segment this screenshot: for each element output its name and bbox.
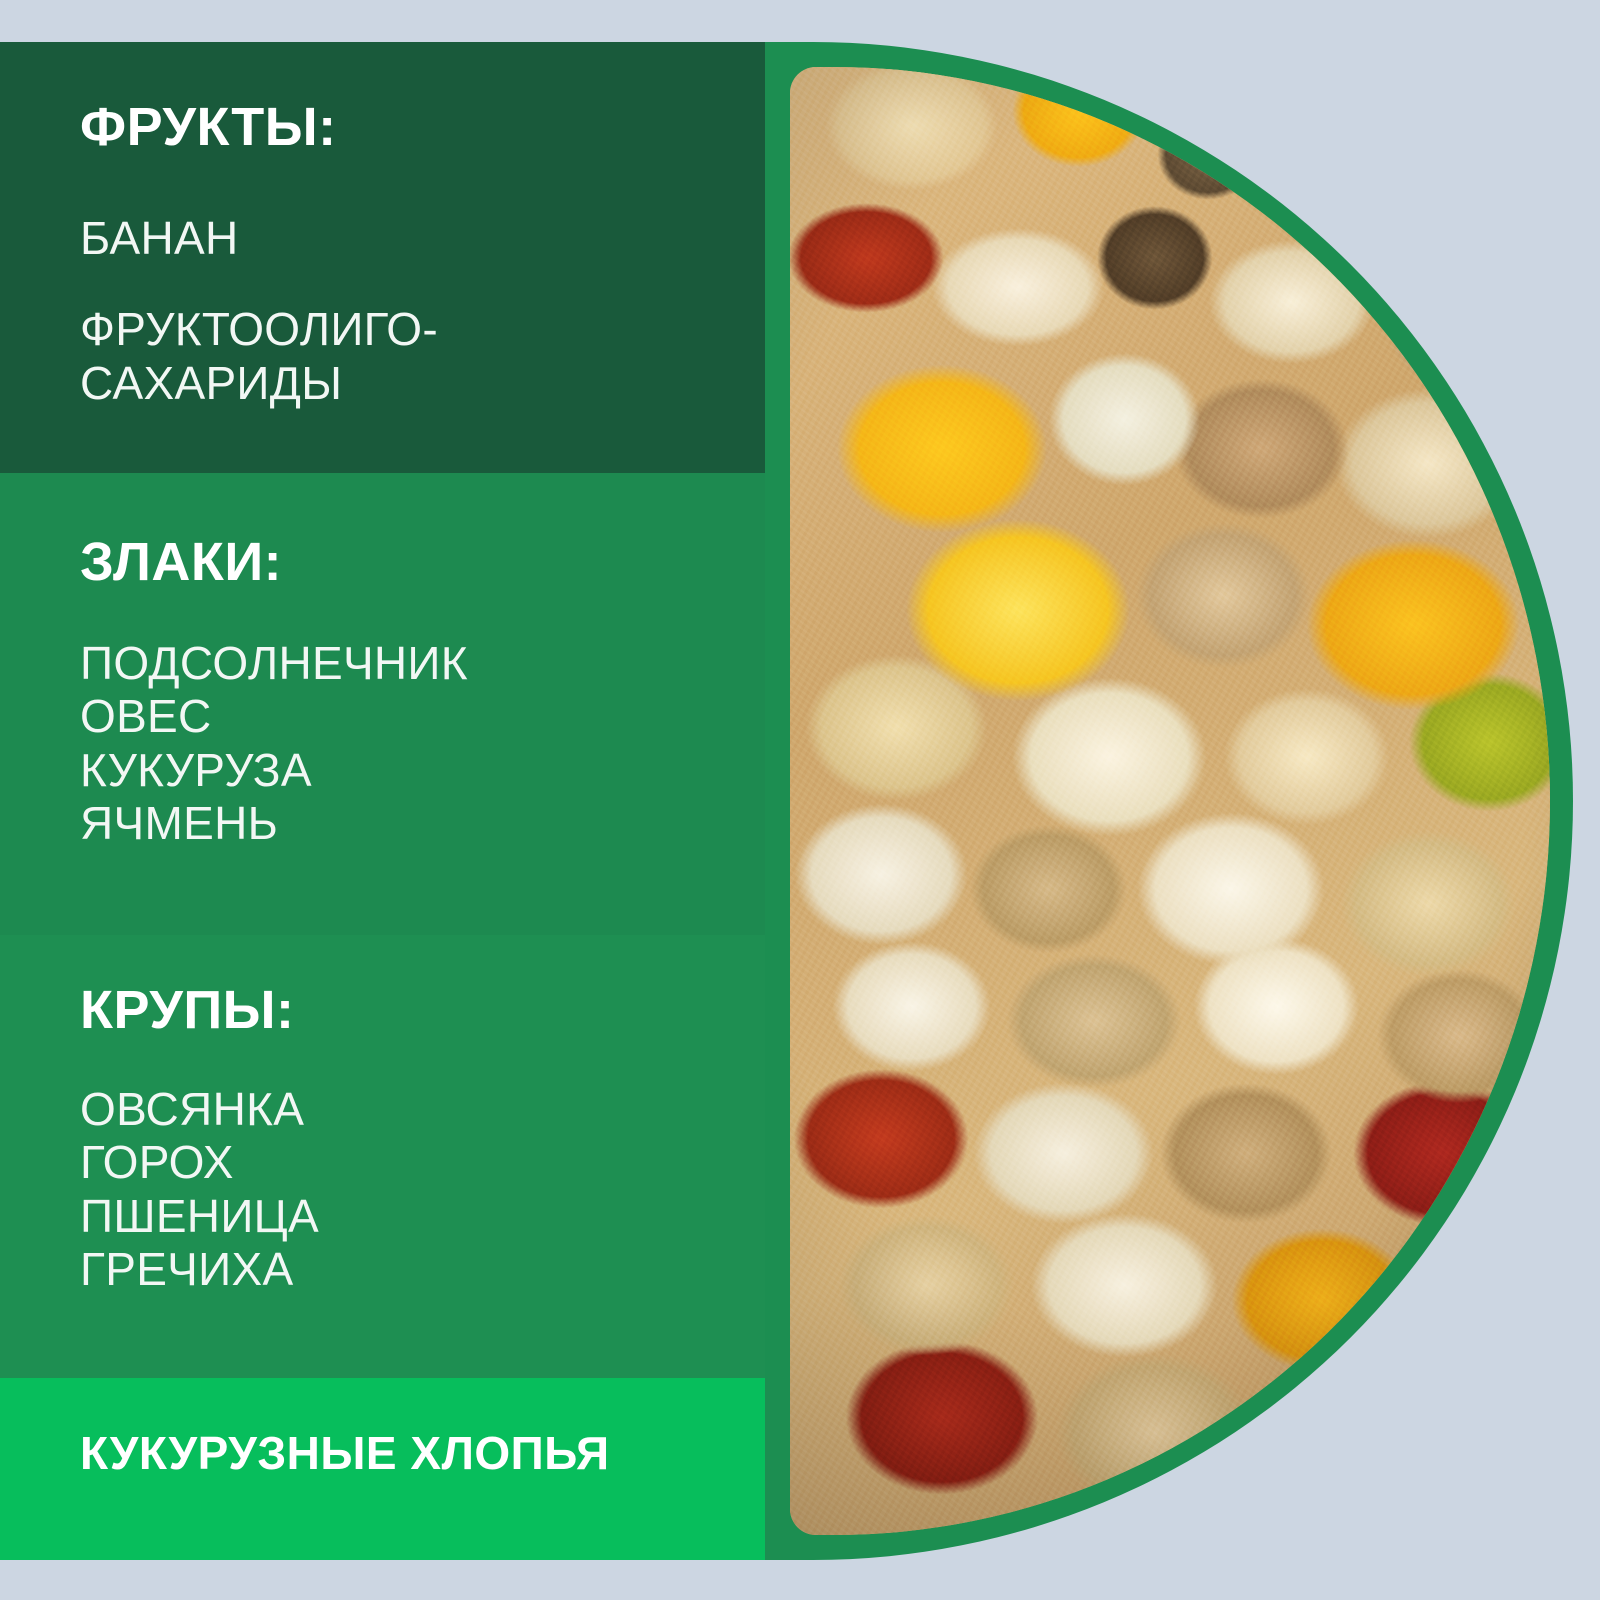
section-cereals-title: КРУПЫ:: [80, 983, 775, 1037]
poster-root: ФРУКТЫ: БАНАН ФРУКТООЛИГО- САХАРИДЫ ЗЛАК…: [0, 0, 1600, 1600]
list-item: ОВЕС: [80, 690, 775, 743]
list-item: ПОДСОЛНЕЧНИК: [80, 637, 775, 690]
list-item: ЯЧМЕНЬ: [80, 797, 775, 850]
section-grains-title: ЗЛАКИ:: [80, 535, 775, 589]
product-photo: [790, 67, 1550, 1535]
section-cereals: КРУПЫ: ОВСЯНКА ГОРОХ ПШЕНИЦА ГРЕЧИХА: [0, 935, 775, 1378]
section-corn-flakes-title: КУКУРУЗНЫЕ ХЛОПЬЯ: [80, 1430, 775, 1476]
photo-vignette-overlay: [790, 67, 1550, 1535]
list-item: ГРЕЧИХА: [80, 1243, 775, 1296]
list-item: ПШЕНИЦА: [80, 1190, 775, 1243]
section-cereals-list: ОВСЯНКА ГОРОХ ПШЕНИЦА ГРЕЧИХА: [80, 1083, 775, 1296]
section-fruits-title: ФРУКТЫ:: [80, 100, 775, 154]
section-fruits-list: БАНАН ФРУКТООЛИГО- САХАРИДЫ: [80, 212, 775, 410]
list-item: ГОРОХ: [80, 1136, 775, 1189]
section-fruits: ФРУКТЫ: БАНАН ФРУКТООЛИГО- САХАРИДЫ: [0, 42, 775, 473]
list-item: КУКУРУЗА: [80, 744, 775, 797]
section-corn-flakes: КУКУРУЗНЫЕ ХЛОПЬЯ: [0, 1378, 775, 1560]
section-grains: ЗЛАКИ: ПОДСОЛНЕЧНИК ОВЕС КУКУРУЗА ЯЧМЕНЬ: [0, 473, 775, 935]
section-grains-list: ПОДСОЛНЕЧНИК ОВЕС КУКУРУЗА ЯЧМЕНЬ: [80, 637, 775, 850]
list-item: ОВСЯНКА: [80, 1083, 775, 1136]
photo-semicircle-frame: [765, 42, 1573, 1560]
list-item: ФРУКТООЛИГО- САХАРИДЫ: [80, 303, 775, 410]
list-item: БАНАН: [80, 212, 775, 265]
